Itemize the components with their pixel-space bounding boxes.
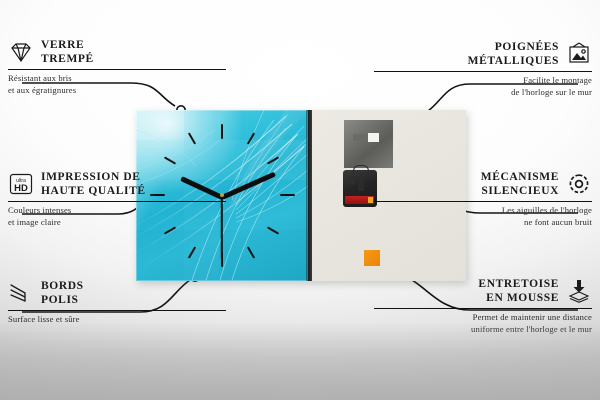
mechanism-hook <box>353 165 369 174</box>
clock-minute-hand <box>221 172 276 200</box>
feature-poignees-metalliques: POIGNÉES MÉTALLIQUES Facilite le montage… <box>374 40 592 98</box>
feature-verre-trempe: VERRE TREMPÉ Résistant aux bris et aux é… <box>8 38 226 96</box>
feature-title-line1: ENTRETOISE <box>478 277 559 291</box>
feature-title-line2: MÉTALLIQUES <box>468 54 559 68</box>
feature-title-line1: BORDS <box>41 279 84 293</box>
feature-header: VERRE TREMPÉ <box>8 38 226 66</box>
clock-tick-7 <box>188 246 196 258</box>
feature-title-line2: TREMPÉ <box>41 52 94 66</box>
foam-spacer-square <box>364 250 380 266</box>
ultra-hd-icon: ultra HD <box>8 172 34 196</box>
feature-description: Permet de maintenir une distance uniform… <box>374 312 592 335</box>
feature-desc-line2: et aux égratignures <box>8 85 226 97</box>
feature-entretoise-en-mousse: ENTRETOISE EN MOUSSE Permet de maintenir… <box>374 277 592 335</box>
feature-desc-line1: Facilite le montage <box>374 75 592 87</box>
feature-desc-line2: uniforme entre l'horloge et le mur <box>374 324 592 336</box>
clock-tick-4 <box>267 226 279 234</box>
feature-title-line2: EN MOUSSE <box>478 291 559 305</box>
picture-frame-hanger-icon <box>566 42 592 66</box>
feature-title: ENTRETOISE EN MOUSSE <box>478 277 559 305</box>
feature-desc-line2: ne font aucun bruit <box>374 217 592 229</box>
feature-header: ENTRETOISE EN MOUSSE <box>374 277 592 305</box>
feature-description: Les aiguilles de l'horloge ne font aucun… <box>374 205 592 228</box>
clock-tick-2 <box>267 156 279 164</box>
feature-description: Surface lisse et sûre <box>8 314 226 326</box>
feature-desc-line1: Les aiguilles de l'horloge <box>374 205 592 217</box>
feature-title-line2: SILENCIEUX <box>481 184 559 198</box>
feature-title-line1: POIGNÉES <box>468 40 559 54</box>
feature-desc-line1: Couleurs intenses <box>8 205 226 217</box>
arrow-down-stack-icon <box>566 279 592 303</box>
feature-rule <box>8 69 226 70</box>
feature-header: MÉCANISME SILENCIEUX <box>374 170 592 198</box>
feature-description: Couleurs intenses et image claire <box>8 205 226 228</box>
feature-description: Résistant aux bris et aux égratignures <box>8 73 226 96</box>
feature-title: IMPRESSION DE HAUTE QUALITÉ <box>41 170 146 198</box>
polished-edges-icon <box>8 281 34 305</box>
feature-title: MÉCANISME SILENCIEUX <box>481 170 559 198</box>
clock-tick-10 <box>164 156 176 164</box>
feature-rule <box>8 201 226 202</box>
feature-mecanisme-silencieux: MÉCANISME SILENCIEUX Les aiguilles de l'… <box>374 170 592 228</box>
quartz-mechanism-box <box>343 170 377 207</box>
clock-tick-3 <box>280 194 295 196</box>
feature-desc-line2: de l'horloge sur le mur <box>374 87 592 99</box>
hd-label: HD <box>14 183 28 194</box>
feature-header: BORDS POLIS <box>8 279 226 307</box>
feature-title: VERRE TREMPÉ <box>41 38 94 66</box>
hanger-hole <box>368 133 379 142</box>
feature-rule <box>374 71 592 72</box>
feature-title-line2: HAUTE QUALITÉ <box>41 184 146 198</box>
feature-rule <box>374 308 592 309</box>
battery <box>345 196 374 204</box>
feature-impression-haute-qualite: ultra HD IMPRESSION DE HAUTE QUALITÉ Cou… <box>8 170 226 228</box>
feature-description: Facilite le montage de l'horloge sur le … <box>374 75 592 98</box>
feature-rule <box>8 310 226 311</box>
mechanism-shaft-detail <box>358 179 364 191</box>
infographic-canvas: VERRE TREMPÉ Résistant aux bris et aux é… <box>0 0 600 400</box>
metal-hanger-plate <box>344 120 393 168</box>
mechanism-gear-detail <box>347 176 356 185</box>
feature-title: POIGNÉES MÉTALLIQUES <box>468 40 559 68</box>
gear-icon <box>566 172 592 196</box>
diamond-icon <box>8 40 34 64</box>
feature-bords-polis: BORDS POLIS Surface lisse et sûre <box>8 279 226 326</box>
feature-title-line2: POLIS <box>41 293 84 307</box>
feature-title-line1: IMPRESSION DE <box>41 170 146 184</box>
feature-title-line1: MÉCANISME <box>481 170 559 184</box>
feature-desc-line2: et image claire <box>8 217 226 229</box>
feature-desc-line1: Permet de maintenir une distance <box>374 312 592 324</box>
feature-desc-line1: Résistant aux bris <box>8 73 226 85</box>
clock-tick-5 <box>247 246 255 258</box>
feature-title-line1: VERRE <box>41 38 94 52</box>
feature-header: POIGNÉES MÉTALLIQUES <box>374 40 592 68</box>
clock-tick-12 <box>221 124 223 139</box>
feature-header: ultra HD IMPRESSION DE HAUTE QUALITÉ <box>8 170 226 198</box>
feature-rule <box>374 201 592 202</box>
clock-tick-11 <box>188 132 196 144</box>
feature-title: BORDS POLIS <box>41 279 84 307</box>
feature-desc-line1: Surface lisse et sûre <box>8 314 226 326</box>
clock-tick-1 <box>247 132 255 144</box>
